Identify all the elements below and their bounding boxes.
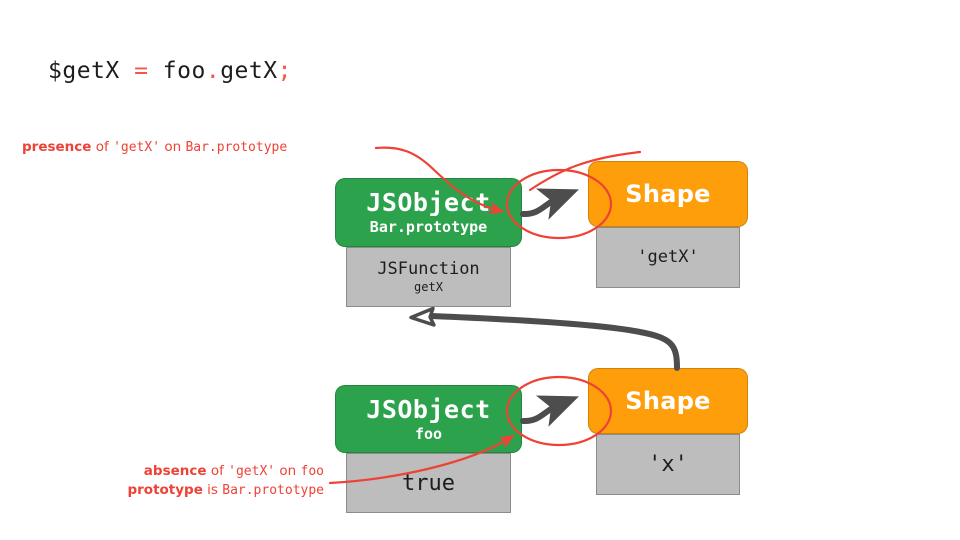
node-shape-top-title: Shape <box>625 180 711 208</box>
annotation-prototype-is: is <box>203 482 222 498</box>
annotation-absence-on: on <box>275 463 300 479</box>
annotation-presence-of: of <box>91 139 113 155</box>
annotation-presence-target: Bar.prototype <box>185 140 287 155</box>
annotation-absence-of: of <box>207 463 229 479</box>
annotation-presence-property: 'getX' <box>113 140 160 155</box>
node-shape-top-body: 'getX' <box>596 227 740 288</box>
node-shape-bottom-header: Shape <box>588 368 748 434</box>
edge-foo-to-shape <box>523 404 560 421</box>
node-shape-top-body-line1: 'getX' <box>637 247 698 268</box>
code-variable: $getX <box>48 58 120 84</box>
code-equals: = <box>120 58 163 84</box>
node-bar-prototype-body-line2: getX <box>414 280 443 295</box>
node-shape-top-header: Shape <box>588 161 748 227</box>
annotation-absence-keyword: absence <box>144 463 207 479</box>
node-foo-body-line1: true <box>402 473 455 494</box>
annotation-presence-keyword: presence <box>22 139 91 155</box>
annotation-absence: absence of 'getX' on foo prototype is Ba… <box>86 462 324 500</box>
annotation-absence-object: foo <box>301 464 324 479</box>
node-bar-prototype-title: JSObject <box>366 189 490 217</box>
node-foo-body: true <box>346 453 511 513</box>
annotation-prototype-keyword: prototype <box>127 482 202 498</box>
node-bar-prototype-subtitle: Bar.prototype <box>370 218 487 236</box>
code-dot: . <box>206 58 220 84</box>
node-shape-bottom-body: 'x' <box>596 434 740 495</box>
annotation-presence-on: on <box>160 139 185 155</box>
annotation-absence-line2: prototype is Bar.prototype <box>86 481 324 500</box>
code-semicolon: ; <box>278 58 292 84</box>
node-foo-subtitle: foo <box>415 425 442 443</box>
code-object: foo <box>163 58 206 84</box>
code-property: getX <box>220 58 277 84</box>
node-shape-bottom-title: Shape <box>625 387 711 415</box>
node-bar-prototype-body: JSFunction getX <box>346 247 511 307</box>
annotation-absence-line1: absence of 'getX' on foo <box>86 462 324 481</box>
annotation-presence: presence of 'getX' on Bar.prototype <box>22 138 287 157</box>
node-bar-prototype-body-line1: JSFunction <box>377 259 479 280</box>
code-line: $getX = foo.getX; <box>48 58 292 84</box>
annotation-absence-property: 'getX' <box>228 464 275 479</box>
annotation-prototype-target: Bar.prototype <box>222 483 324 498</box>
node-foo-header: JSObject foo <box>335 385 522 453</box>
node-bar-prototype-header: JSObject Bar.prototype <box>335 178 522 247</box>
node-shape-bottom-body-line1: 'x' <box>648 454 688 475</box>
node-foo-title: JSObject <box>366 396 490 424</box>
diagram-canvas: $getX = foo.getX; presence of 'getX' on … <box>0 0 960 540</box>
edge-shape-bottom-to-jsfunction <box>411 309 677 369</box>
edge-bar-prototype-to-shape <box>523 197 560 214</box>
